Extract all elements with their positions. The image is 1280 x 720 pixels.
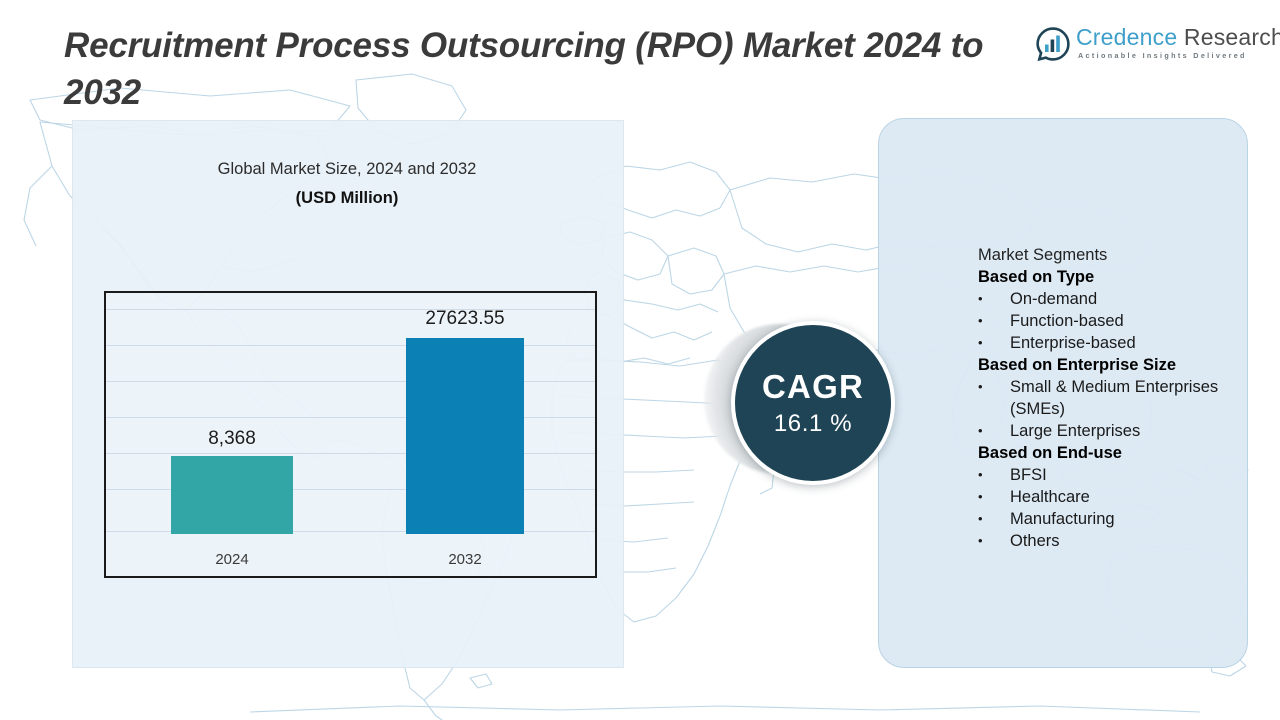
segment-item-label: Enterprise-based: [1010, 332, 1136, 354]
segment-item: • Manufacturing: [978, 508, 1228, 530]
cagr-badge: CAGR 16.1 %: [700, 310, 900, 490]
bar-2032: [406, 338, 524, 534]
segment-item-label: Others: [1010, 530, 1060, 552]
segment-group-title-enterprise-size: Based on Enterprise Size: [978, 354, 1228, 376]
logo-tagline: Actionable Insights Delivered: [1078, 51, 1247, 60]
segment-item: • Small & Medium Enterprises (SMEs): [978, 376, 1228, 420]
segment-group-title-type: Based on Type: [978, 266, 1228, 288]
bullet-icon: •: [978, 508, 988, 530]
segment-item-label: Large Enterprises: [1010, 420, 1140, 442]
market-segments: Market Segments Based on Type • On-deman…: [978, 244, 1228, 552]
bullet-icon: •: [978, 332, 988, 354]
segment-item: • On-demand: [978, 288, 1228, 310]
bar-value-label-2032: 27623.55: [391, 308, 539, 330]
brand-logo[interactable]: Credence Research Actionable Insights De…: [1036, 24, 1256, 70]
segment-item: • BFSI: [978, 464, 1228, 486]
segment-item-label: Small & Medium Enterprises (SMEs): [1010, 376, 1228, 420]
bullet-icon: •: [978, 486, 988, 508]
segment-item-label: Healthcare: [1010, 486, 1090, 508]
bar-category-label-2032: 2032: [406, 551, 524, 568]
segment-group-title-end-use: Based on End-use: [978, 442, 1228, 464]
bullet-icon: •: [978, 464, 988, 486]
segments-heading: Market Segments: [978, 244, 1228, 266]
segment-item: • Function-based: [978, 310, 1228, 332]
bullet-icon: •: [978, 530, 988, 552]
bullet-icon: •: [978, 420, 988, 442]
logo-word-credence: Credence: [1076, 24, 1177, 50]
cagr-label: CAGR: [762, 370, 864, 403]
chart-subtitle: (USD Million): [72, 189, 622, 208]
segment-item-label: Manufacturing: [1010, 508, 1115, 530]
bar-chart-bubble-icon: [1036, 27, 1070, 61]
cagr-circle: CAGR 16.1 %: [731, 321, 895, 485]
segment-item: • Large Enterprises: [978, 420, 1228, 442]
bar-value-label-2024: 8,368: [171, 428, 293, 450]
segment-item: • Enterprise-based: [978, 332, 1228, 354]
segment-item-label: Function-based: [1010, 310, 1124, 332]
bar-category-label-2024: 2024: [171, 551, 293, 568]
bullet-icon: •: [978, 310, 988, 332]
chart-title: Global Market Size, 2024 and 2032: [72, 160, 622, 179]
cagr-value: 16.1 %: [774, 412, 852, 436]
logo-wordmark: Credence Research: [1076, 24, 1280, 51]
bar-chart-plot: 8,368 2024 27623.55 2032: [104, 291, 597, 578]
bullet-icon: •: [978, 376, 988, 420]
bar-2024: [171, 456, 293, 534]
infographic-canvas: Recruitment Process Outsourcing (RPO) Ma…: [0, 0, 1280, 720]
segment-item-label: BFSI: [1010, 464, 1047, 486]
bullet-icon: •: [978, 288, 988, 310]
segment-item: • Healthcare: [978, 486, 1228, 508]
segment-item-label: On-demand: [1010, 288, 1097, 310]
segment-item: • Others: [978, 530, 1228, 552]
page-title: Recruitment Process Outsourcing (RPO) Ma…: [64, 22, 1064, 116]
logo-word-research: Research: [1177, 24, 1280, 50]
